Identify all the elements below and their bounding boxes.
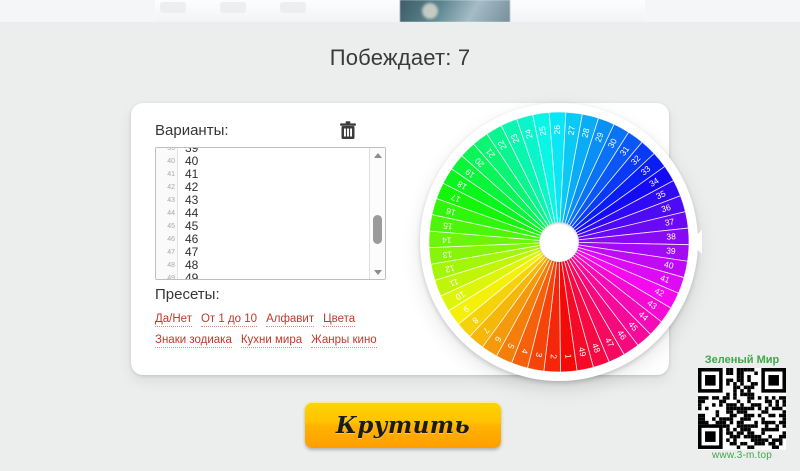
wheel-segment-label: 2 [549,354,559,360]
preset-row-2: Знаки зодиака Кухни мира Жанры кино [155,334,377,348]
variants-scrollbar[interactable] [369,148,385,279]
preset-link-zodiac[interactable]: Знаки зодиака [155,334,232,348]
scrollbar-thumb[interactable] [373,215,382,244]
line-number-gutter: 394041424344454647484950 [156,148,178,279]
line-number: 39 [156,148,175,155]
preset-link-colors[interactable]: Цвета [323,313,355,327]
spinner-wheel[interactable]: 1234567891011121314151617181920212223242… [420,103,698,381]
banner-placeholder-1 [160,2,186,13]
scroll-down-arrow[interactable] [370,265,385,279]
preset-link-yes-no[interactable]: Да/Нет [155,313,192,327]
wheel-segment-label: 27 [566,125,577,136]
wheel-segment-label: 25 [537,125,548,136]
qr-url-label: www.3-m.top [690,450,794,462]
qr-title: Зеленый Мир [690,354,794,367]
wheel-segment-label: 15 [442,220,453,231]
line-number: 46 [156,233,175,246]
variants-lines[interactable]: 3940414243444546474849 [178,148,385,279]
preset-link-1-to-10[interactable]: От 1 до 10 [201,313,257,327]
banner-placeholder-3 [280,2,306,13]
line-number: 47 [156,246,175,259]
line-number: 44 [156,207,175,220]
line-number: 43 [156,194,175,207]
preset-row-1: Да/Нет От 1 до 10 Алфавит Цвета [155,313,355,327]
wheel-hub [539,222,579,262]
winner-text: Побеждает: 7 [0,45,800,71]
preset-link-film-genres[interactable]: Жанры кино [311,334,377,348]
wheel-segment-label: 14 [442,235,452,245]
top-cropped-banner [0,0,800,22]
line-number: 41 [156,168,175,181]
scroll-up-arrow[interactable] [370,148,385,162]
wheel-segment-label: 26 [552,125,562,135]
variants-textarea[interactable]: 394041424344454647484950 394041424344454… [155,147,386,280]
spin-button[interactable]: Крутить [305,402,501,448]
line-number: 42 [156,181,175,194]
wheel-segment-label: 37 [664,216,675,228]
preset-link-alphabet[interactable]: Алфавит [266,313,314,327]
variant-row[interactable]: 49 [185,272,198,279]
qr-block: Зеленый Мир www.3-m.top [690,354,794,466]
line-number: 45 [156,220,175,233]
trash-icon[interactable] [338,120,358,142]
presets-label: Пресеты: [155,286,220,303]
preset-link-cuisines[interactable]: Кухни мира [241,334,302,348]
variants-label: Варианты: [155,122,229,139]
line-number: 40 [156,155,175,168]
wheel-segment-label: 13 [442,249,453,260]
banner-band [155,0,645,22]
banner-photo [400,0,510,22]
line-number: 48 [156,259,175,272]
qr-code-image [698,368,786,450]
wheel-segment-label: 38 [666,231,676,241]
wheel-pointer-icon [689,230,702,254]
wheel-segment-label: 39 [666,245,677,256]
banner-placeholder-2 [220,2,246,13]
line-number: 49 [156,272,175,279]
